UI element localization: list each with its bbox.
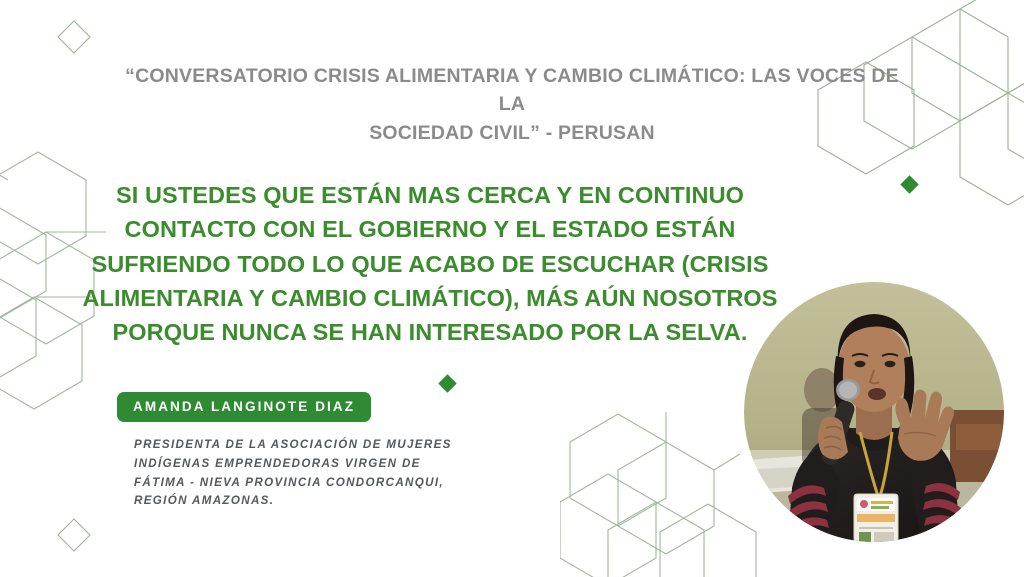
quote-line-5: PORQUE NUNCA SE HAN INTERESADO POR LA SE…: [60, 315, 800, 349]
speaker-role-line-4: REGIÓN AMAZONAS.: [134, 492, 534, 511]
speaker-photo: [744, 282, 1004, 542]
slide-canvas: “CONVERSATORIO CRISIS ALIMENTARIA Y CAMB…: [0, 0, 1024, 577]
quote-line-3: SUFRIENDO TODO LO QUE ACABO DE ESCUCHAR …: [60, 247, 800, 281]
speaker-name-badge: AMANDA LANGINOTE DIAZ: [117, 392, 371, 422]
green-diamond-accent-middle: [438, 374, 456, 392]
quote-text: SI USTEDES QUE ESTÁN MAS CERCA Y EN CONT…: [60, 178, 800, 349]
quote-line-1: SI USTEDES QUE ESTÁN MAS CERCA Y EN CONT…: [60, 178, 800, 212]
speaker-role-line-2: INDÍGENAS EMPRENDEDORAS VIRGEN DE: [134, 455, 534, 474]
outline-diamond-bottom-left: [55, 516, 93, 559]
page-title: “CONVERSATORIO CRISIS ALIMENTARIA Y CAMB…: [112, 62, 912, 147]
speaker-role: PRESIDENTA DE LA ASOCIACIÓN DE MUJERES I…: [134, 436, 534, 511]
quote-line-2: CONTACTO CON EL GOBIERNO Y EL ESTADO EST…: [60, 212, 800, 246]
outline-diamond-top-left: [55, 18, 93, 61]
page-title-line-1: “CONVERSATORIO CRISIS ALIMENTARIA Y CAMB…: [112, 62, 912, 119]
speaker-role-line-3: FÁTIMA - NIEVA PROVINCIA CONDORCANQUI,: [134, 474, 534, 493]
page-title-line-2: SOCIEDAD CIVIL” - PERUSAN: [112, 119, 912, 147]
green-diamond-accent-top-right: [900, 175, 918, 193]
speaker-role-line-1: PRESIDENTA DE LA ASOCIACIÓN DE MUJERES: [134, 436, 534, 455]
quote-line-4: ALIMENTARIA Y CAMBIO CLIMÁTICO), MÁS AÚN…: [60, 281, 800, 315]
